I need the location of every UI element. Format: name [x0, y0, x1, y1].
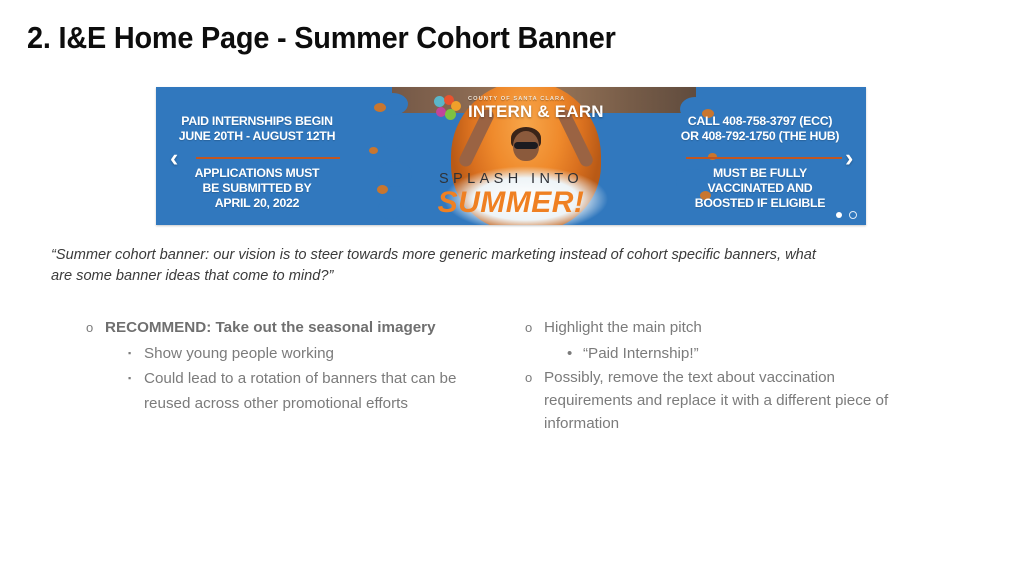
page-title: 2. I&E Home Page - Summer Cohort Banner — [27, 20, 616, 56]
santa-clara-county-circles-icon — [434, 95, 461, 121]
summer-cohort-banner[interactable]: PAID INTERNSHIPS BEGIN JUNE 20TH - AUGUS… — [156, 87, 866, 225]
bullet-item: oPossibly, remove the text about vaccina… — [525, 366, 905, 435]
left-bullet-column: oRECOMMEND: Take out the seasonal imager… — [86, 316, 481, 416]
carousel-prev-icon[interactable]: ‹ — [170, 149, 185, 168]
intern-and-earn-logo: COUNTY OF SANTA CLARA INTERN & EARN — [434, 95, 604, 121]
carousel-dot-active[interactable] — [836, 212, 842, 218]
bullet-marker-icon: o — [525, 316, 544, 339]
bullet-text: Show young people working — [144, 341, 334, 366]
bullet-marker-icon: ▪ — [128, 366, 144, 391]
bullet-item: oRECOMMEND: Take out the seasonal imager… — [86, 316, 481, 339]
carousel-dots[interactable] — [836, 211, 857, 219]
carousel-dot-inactive[interactable] — [849, 211, 857, 219]
bullet-text: Could lead to a rotation of banners that… — [144, 366, 481, 416]
internship-dates-line2: JUNE 20TH - AUGUST 12TH — [164, 129, 350, 144]
bullet-marker-icon: • — [567, 341, 583, 366]
bullet-item: oHighlight the main pitch — [525, 316, 905, 339]
bullet-marker-icon: ▪ — [128, 341, 144, 366]
banner-headline: SUMMER! — [156, 187, 866, 219]
banner-left-top-text: PAID INTERNSHIPS BEGIN JUNE 20TH - AUGUS… — [164, 114, 350, 144]
bullet-item: ▪Show young people working — [86, 341, 481, 366]
logo-title: INTERN & EARN — [468, 103, 604, 120]
bullet-text: RECOMMEND: Take out the seasonal imagery — [105, 316, 436, 339]
bullet-text: Possibly, remove the text about vaccinat… — [544, 366, 905, 435]
banner-left-divider — [196, 157, 340, 159]
bullet-text: Highlight the main pitch — [544, 316, 702, 339]
right-bullet-column: oHighlight the main pitch•“Paid Internsh… — [525, 316, 905, 437]
phone-line1: CALL 408-758-3797 (ECC) — [660, 114, 860, 129]
bullet-item: •“Paid Internship!” — [525, 341, 905, 366]
quote-text: “Summer cohort banner: our vision is to … — [51, 245, 841, 287]
bullet-item: ▪Could lead to a rotation of banners tha… — [86, 366, 481, 416]
bullet-marker-icon: o — [86, 316, 105, 339]
bullet-text: “Paid Internship!” — [583, 341, 699, 366]
carousel-next-icon[interactable]: › — [845, 149, 860, 168]
banner-kicker: SPLASH INTO — [156, 171, 866, 187]
phone-line2: OR 408-792-1750 (THE HUB) — [660, 129, 860, 144]
banner-right-divider — [686, 157, 842, 159]
person-sunglasses — [514, 142, 538, 149]
banner-right-top-text: CALL 408-758-3797 (ECC) OR 408-792-1750 … — [660, 114, 860, 144]
internship-dates-line1: PAID INTERNSHIPS BEGIN — [164, 114, 350, 129]
bullet-marker-icon: o — [525, 366, 544, 389]
